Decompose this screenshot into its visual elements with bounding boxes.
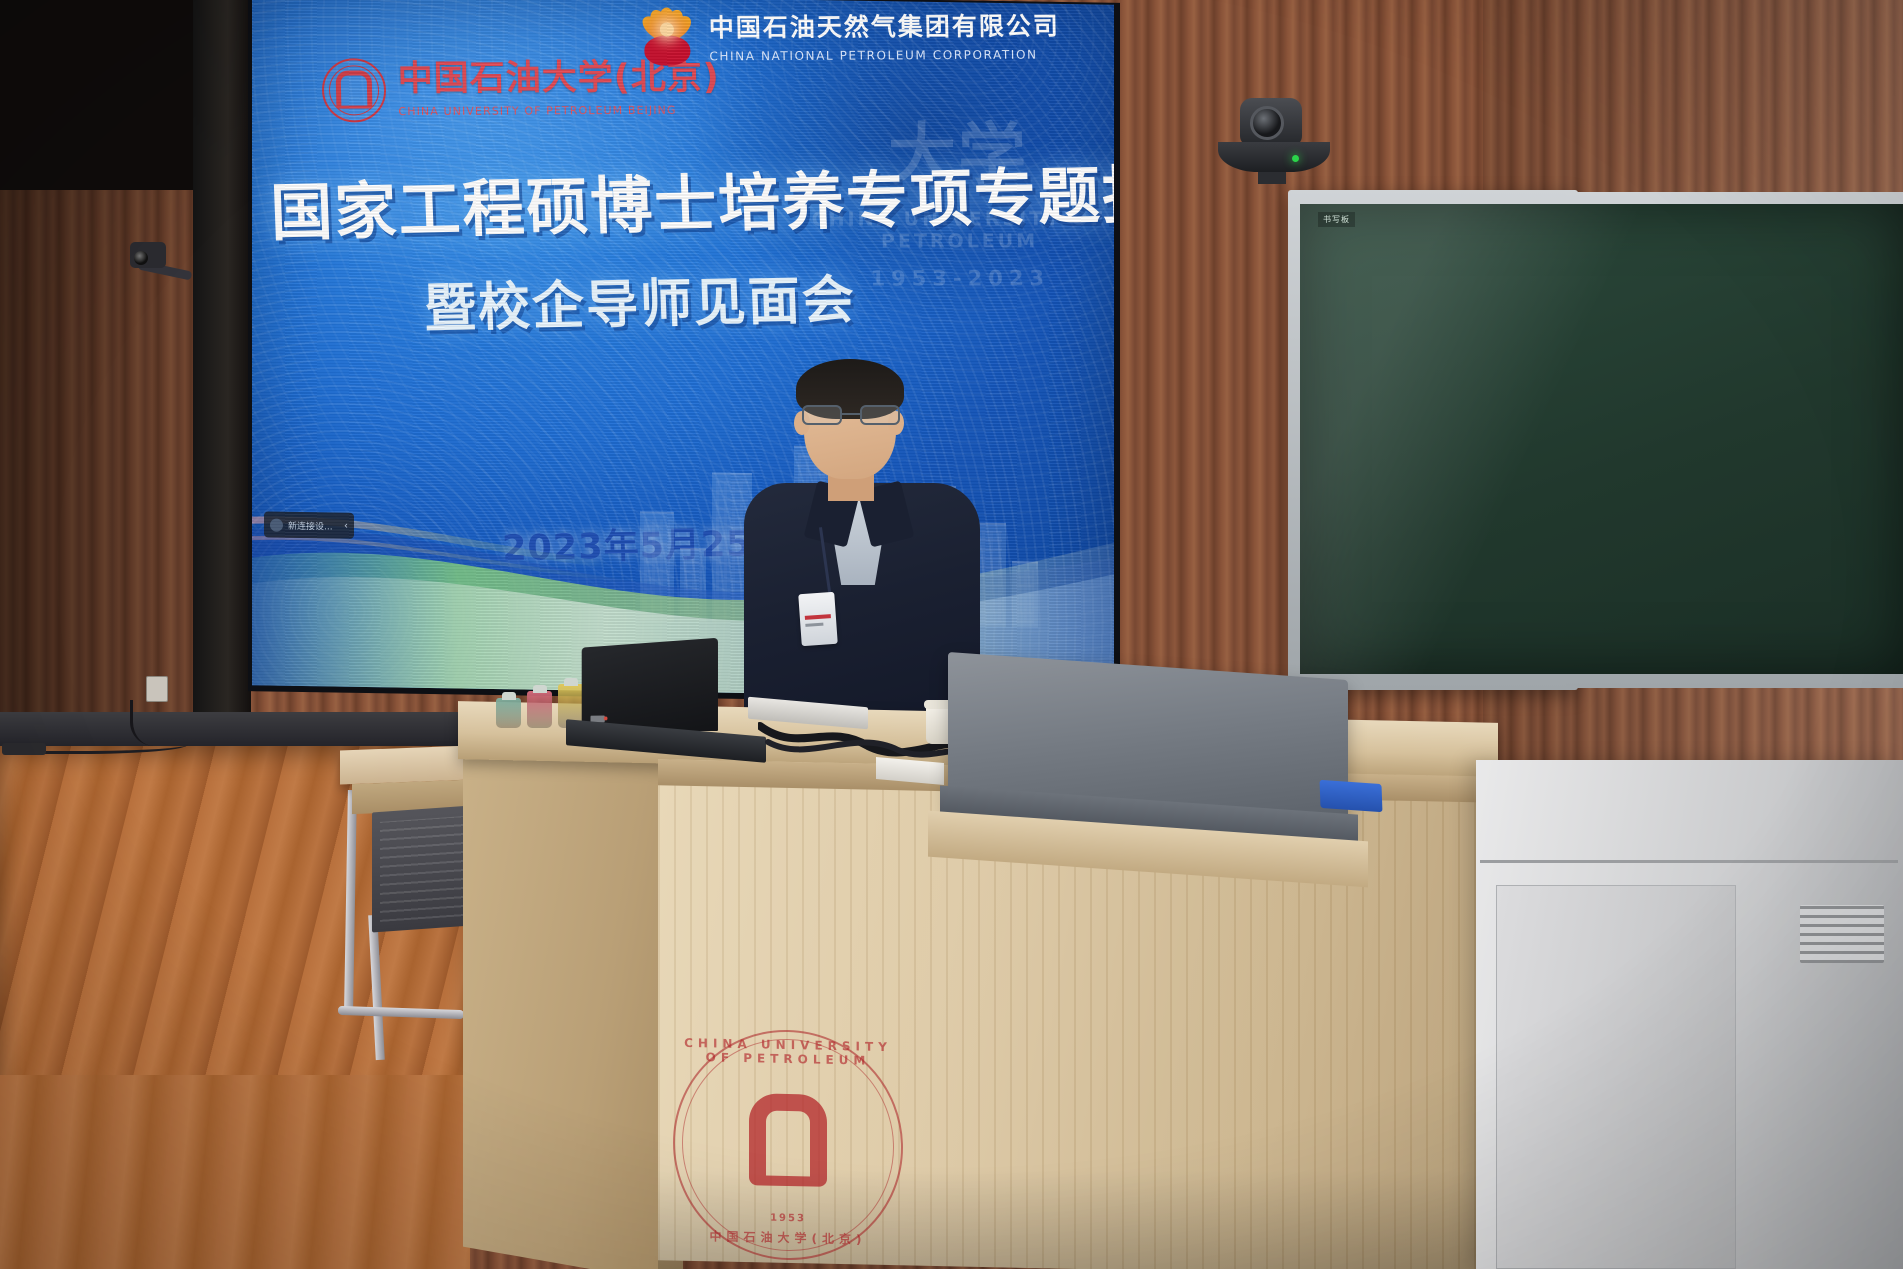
- wall-camera-body: [130, 242, 166, 268]
- city-building: [680, 548, 706, 622]
- podium-emblem-mark: [749, 1094, 827, 1188]
- screen-overlay-toolbar[interactable]: 新连接设... ‹: [264, 511, 354, 538]
- signal-dot-icon: [270, 518, 283, 531]
- power-socket-icon: [146, 676, 168, 702]
- screen-overlay-label: 新连接设...: [288, 518, 333, 532]
- chevron-left-icon[interactable]: ‹: [344, 520, 348, 531]
- bottle-item: [527, 691, 552, 728]
- wood-floor-foreground: [0, 1075, 470, 1269]
- blackboard-tag: 书写板: [1318, 212, 1355, 227]
- cnpc-flame-icon: [636, 3, 697, 67]
- podium-left-face: [463, 727, 683, 1269]
- eyeglasses-icon: [802, 405, 900, 425]
- bottle-item: [496, 698, 521, 728]
- screen-title-block: 国家工程硕博士培养专项专题报告会 暨校企导师见面会: [269, 165, 1094, 338]
- cupb-emblem-icon: CHINA UNIVERSITY OF PETROLEUM 1953 中国石油大…: [673, 1028, 903, 1263]
- ptz-camera-body: [1240, 98, 1302, 146]
- cupb-seal-icon: [321, 58, 386, 122]
- scene-root: 大学 CHINA UNIVERSITY OF PETROLEUM 1953-20…: [0, 0, 1903, 1269]
- cnpc-name-en: CHINA NATIONAL PETROLEUM CORPORATION: [709, 47, 1060, 63]
- id-badge: [798, 592, 838, 646]
- green-status-led: [1292, 155, 1299, 162]
- cnpc-name-cn: 中国石油天然气集团有限公司: [708, 6, 1060, 44]
- floor-plug: [2, 743, 46, 755]
- city-building: [1012, 561, 1038, 627]
- console-blue-item: [1320, 780, 1383, 812]
- cabinet-vent: [1800, 905, 1884, 963]
- ptz-camera-base: [1218, 142, 1330, 172]
- university-name-en: CHINA UNIVERSITY OF PETROLEUM BEIJING: [398, 103, 720, 118]
- blackboard-sheen: [1300, 204, 1903, 674]
- cabinet-seam: [1480, 860, 1898, 863]
- podium-emblem-text-top: CHINA UNIVERSITY OF PETROLEUM: [675, 1036, 901, 1069]
- podium-emblem-year: 1953: [675, 1211, 901, 1227]
- laptop-icon[interactable]: [582, 638, 718, 731]
- ptz-camera-icon: [1218, 98, 1330, 186]
- cabinet-door[interactable]: [1496, 885, 1736, 1269]
- city-building: [640, 511, 674, 622]
- cnpc-logo: 中国石油天然气集团有限公司 CHINA NATIONAL PETROLEUM C…: [636, 1, 1060, 67]
- wall-camera-lens: [134, 251, 148, 265]
- title-main: 国家工程硕博士培养专项专题报告会: [269, 165, 1091, 244]
- podium: CHINA UNIVERSITY OF PETROLEUM 1953 中国石油大…: [458, 650, 1498, 1269]
- wall-camera-icon: [118, 238, 194, 298]
- ptz-camera-lens: [1250, 106, 1284, 140]
